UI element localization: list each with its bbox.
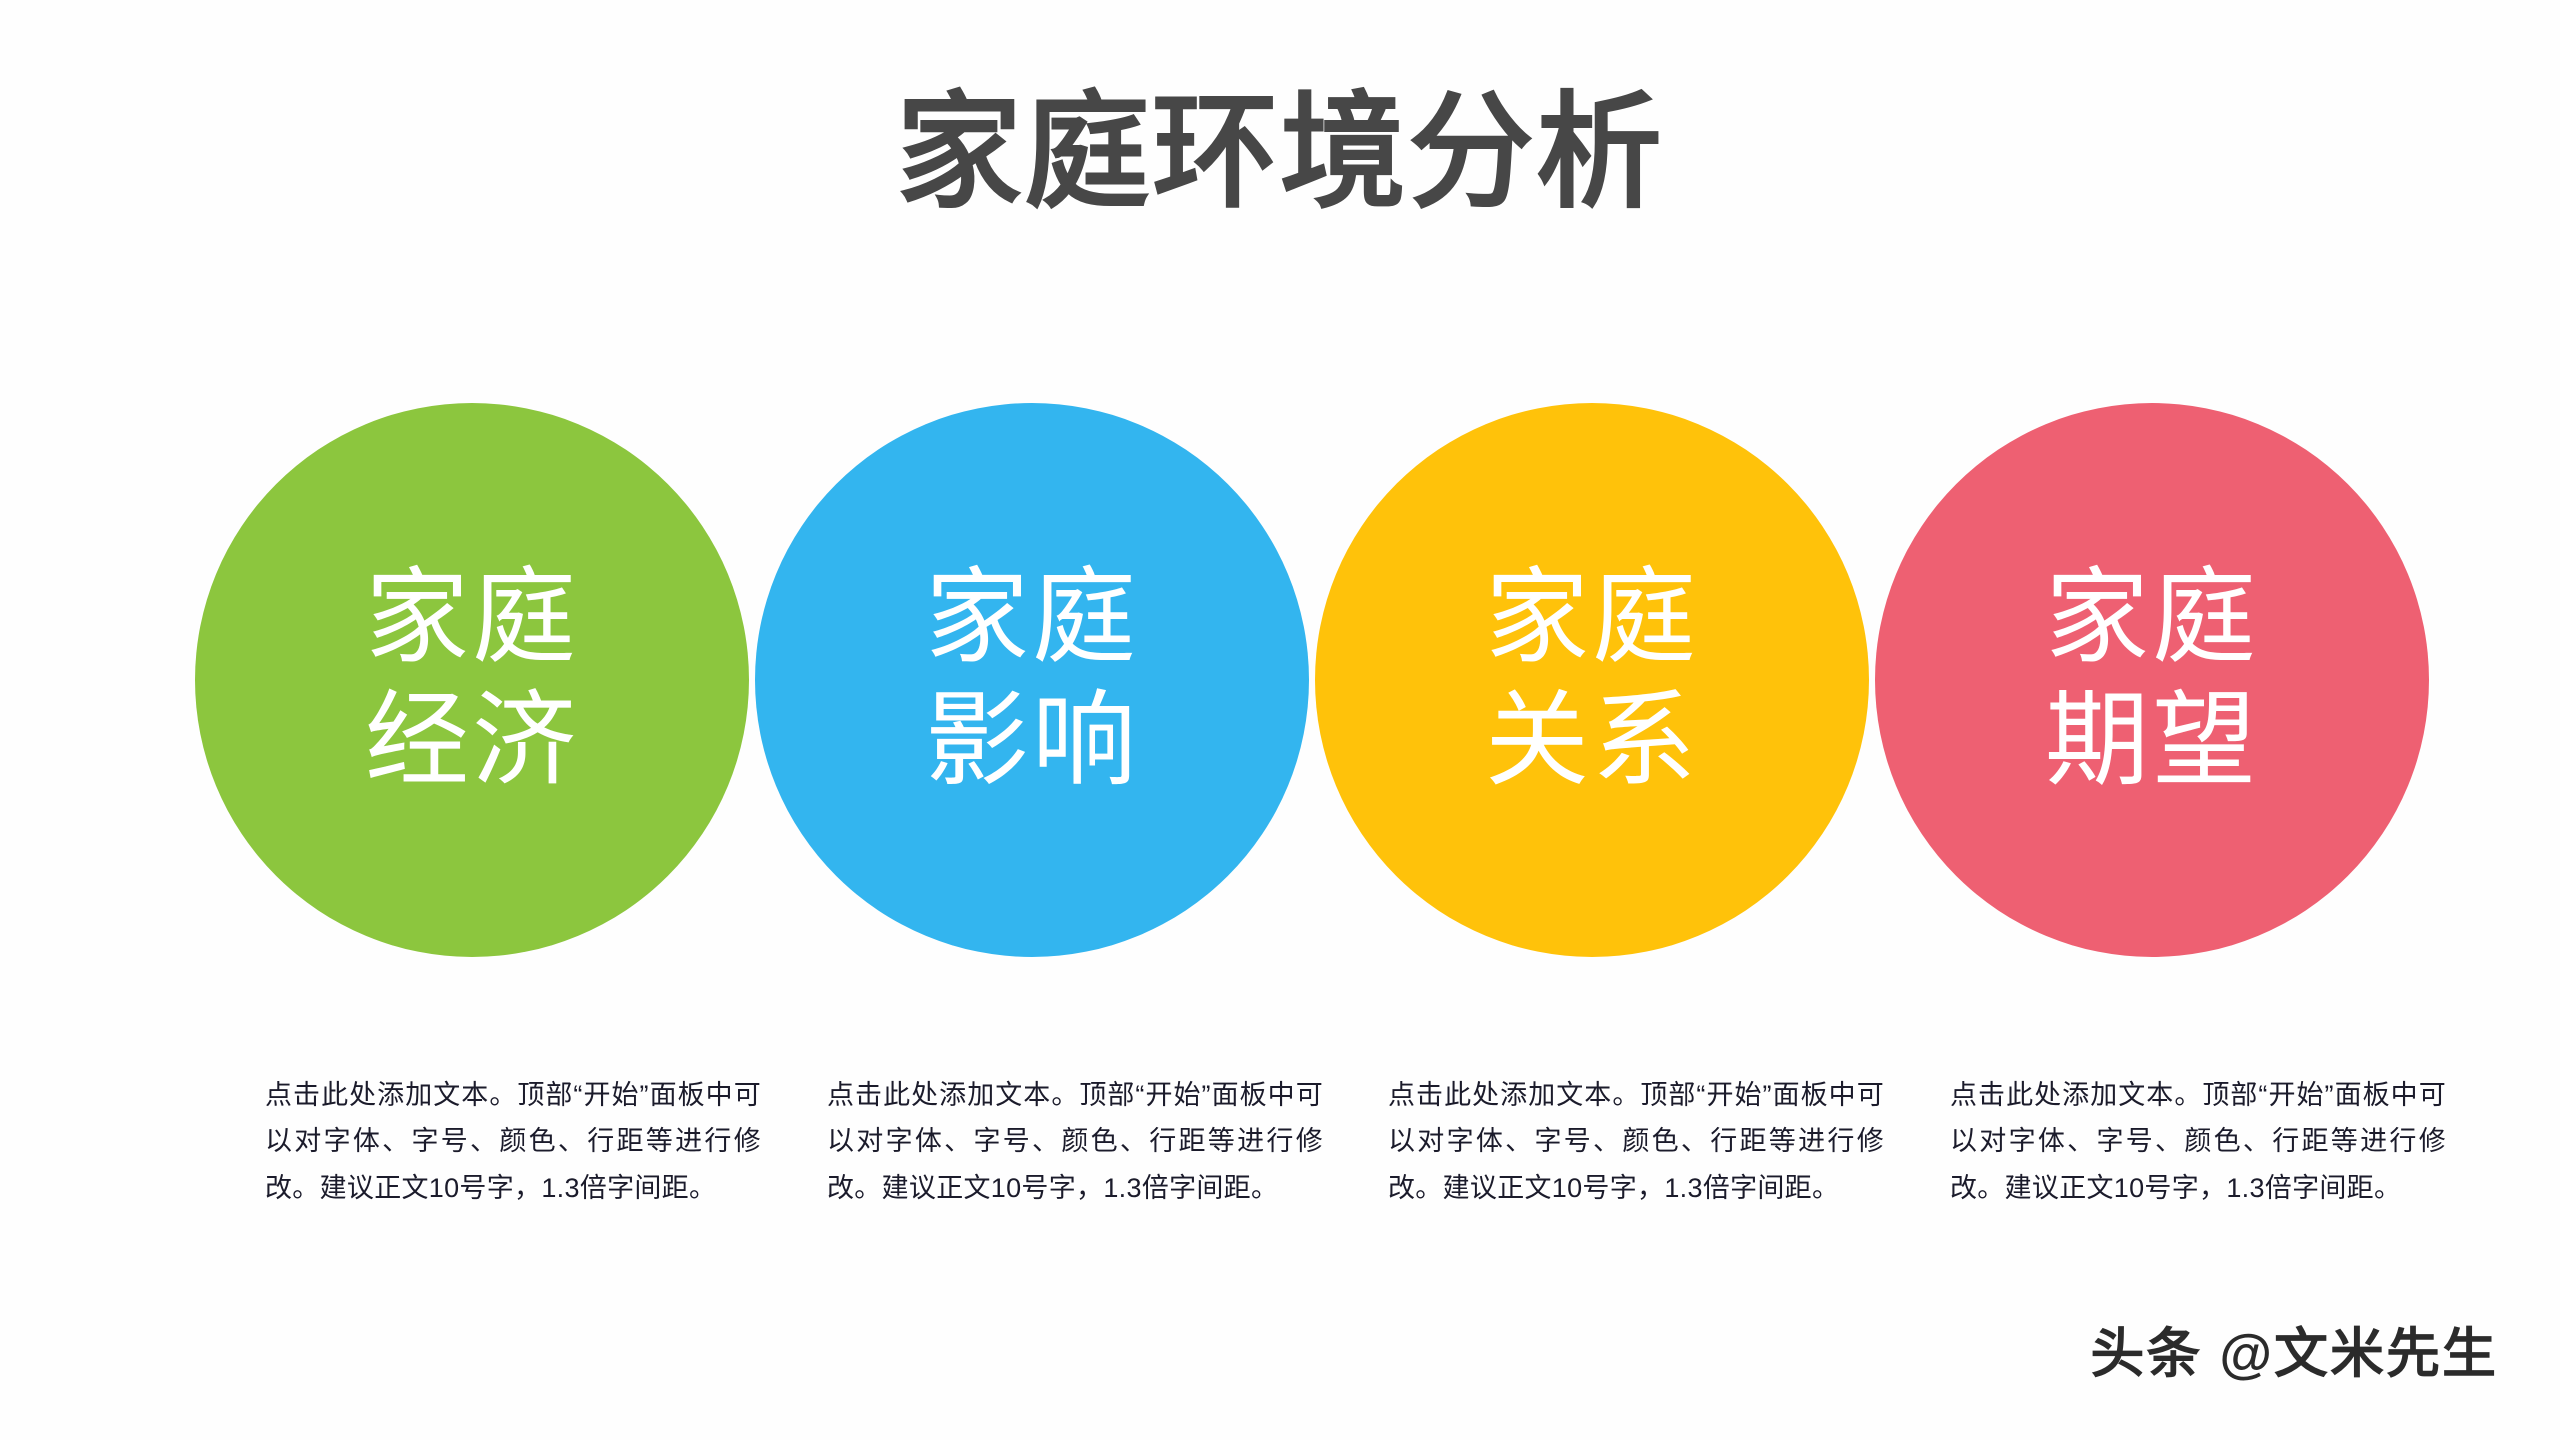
circle-label-line1: 家庭 xyxy=(2045,557,2259,680)
circle-label-line1: 家庭 xyxy=(925,557,1139,680)
circle-label-line2: 期望 xyxy=(2045,680,2259,803)
circle-label-line2: 经济 xyxy=(365,680,579,803)
circle-label-line1: 家庭 xyxy=(1485,557,1699,680)
body-text-family-influence[interactable]: 点击此处添加文本。顶部“开始”面板中可以对字体、字号、颜色、行距等进行修改。建议… xyxy=(827,1072,1323,1211)
body-text-family-expectation[interactable]: 点击此处添加文本。顶部“开始”面板中可以对字体、字号、颜色、行距等进行修改。建议… xyxy=(1950,1072,2446,1211)
watermark-label: 头条 @文米先生 xyxy=(2090,1322,2498,1387)
circle-family-expectation[interactable]: 家庭 期望 xyxy=(1875,403,2429,957)
page-title: 家庭环境分析 xyxy=(0,82,2560,223)
circle-label-line1: 家庭 xyxy=(365,557,579,680)
circle-group: 家庭 经济 家庭 影响 家庭 关系 家庭 期望 xyxy=(0,403,2560,959)
circle-label-line2: 影响 xyxy=(925,680,1139,803)
circle-family-economy[interactable]: 家庭 经济 xyxy=(195,403,749,957)
body-text-family-economy[interactable]: 点击此处添加文本。顶部“开始”面板中可以对字体、字号、颜色、行距等进行修改。建议… xyxy=(265,1072,761,1211)
circle-family-relations[interactable]: 家庭 关系 xyxy=(1315,403,1869,957)
body-text-family-relations[interactable]: 点击此处添加文本。顶部“开始”面板中可以对字体、字号、颜色、行距等进行修改。建议… xyxy=(1388,1072,1884,1211)
circle-label-line2: 关系 xyxy=(1485,680,1699,803)
circle-family-influence[interactable]: 家庭 影响 xyxy=(755,403,1309,957)
body-text-group: 点击此处添加文本。顶部“开始”面板中可以对字体、字号、颜色、行距等进行修改。建议… xyxy=(0,1072,2560,1292)
slide-canvas: 家庭环境分析 家庭 经济 家庭 影响 家庭 关系 家庭 期望 点击此处添加文本。… xyxy=(0,0,2560,1440)
